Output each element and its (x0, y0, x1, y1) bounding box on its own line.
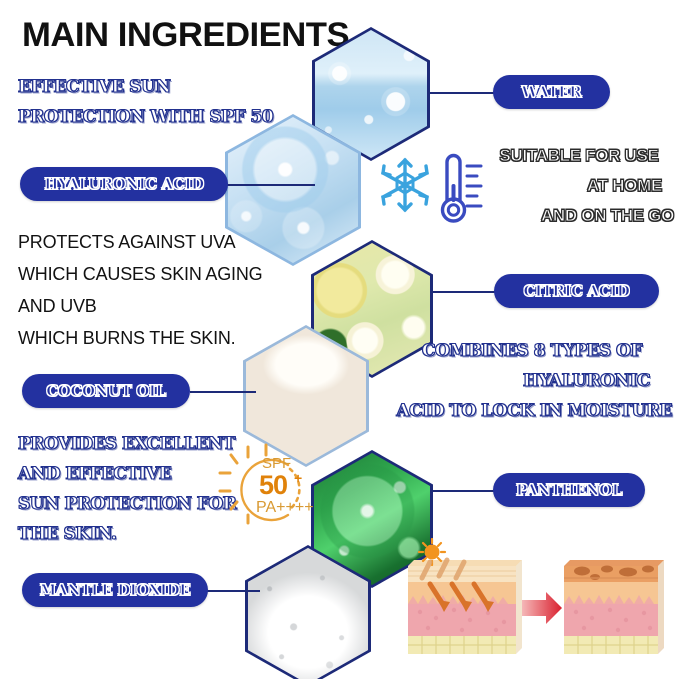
spf-badge: SPF 50 + PA++++ (218, 443, 314, 535)
connector-panthenol (432, 490, 500, 492)
coconut-claim-line-4: THE SKIN. (18, 519, 236, 549)
label-mantle-dioxide[interactable]: MANTLE DIOXIDE (22, 573, 208, 607)
spf-value: 50 (259, 470, 287, 501)
right-arrow-icon (522, 592, 562, 624)
label-coconut-oil[interactable]: COCONUT OIL (22, 374, 190, 408)
coconut-claim-block: PROVIDES EXCELLENT AND EFFECTIVE SUN PRO… (18, 429, 236, 549)
uv-claim-line-4: WHICH BURNS THE SKIN. (18, 322, 262, 354)
spf-claim-line-2: PROTECTION WITH SPF 50 (18, 102, 273, 132)
label-citric-acid[interactable]: CITRIC ACID (494, 274, 659, 308)
spf-claim-block: EFFECTIVE SUN PROTECTION WITH SPF 50 (18, 72, 273, 132)
hyaluronic-claim-line-3: ACID TO LOCK IN MOISTURE (392, 396, 672, 426)
hyaluronic-claim-block: COMBINES 8 TYPES OF HYALURONIC ACID TO L… (392, 336, 672, 426)
label-coconut-oil-text: COCONUT OIL (46, 382, 165, 400)
connector-citric (432, 291, 500, 293)
label-hyaluronic-acid-text: HYALURONIC ACID (44, 175, 203, 193)
hyaluronic-claim-line-2: HYALURONIC (392, 366, 672, 396)
snowflake-thermometer-icon (375, 148, 487, 230)
hyaluronic-claim-line-1: COMBINES 8 TYPES OF (392, 336, 672, 366)
label-mantle-dioxide-text: MANTLE DIOXIDE (40, 581, 191, 599)
uv-claim-line-1: PROTECTS AGAINST UVA (18, 226, 262, 258)
portable-claim-line-1: SUITABLE FOR USE (484, 141, 674, 171)
infographic-canvas: MAIN INGREDIENTS (0, 0, 679, 679)
label-panthenol-text: PANTHENOL (516, 481, 622, 499)
label-water-text: WATER (522, 83, 582, 101)
uv-claim-block: PROTECTS AGAINST UVA WHICH CAUSES SKIN A… (18, 226, 262, 354)
skin-block-after (564, 560, 664, 654)
page-title: MAIN INGREDIENTS (22, 16, 349, 55)
connector-coconut (190, 391, 256, 393)
coconut-claim-line-1: PROVIDES EXCELLENT (18, 429, 236, 459)
portable-claim-line-2: AT HOME (484, 171, 674, 201)
coconut-claim-line-3: SUN PROTECTION FOR (18, 489, 236, 519)
label-panthenol[interactable]: PANTHENOL (493, 473, 645, 507)
spf-plus: + (294, 470, 302, 486)
uv-claim-line-2: WHICH CAUSES SKIN AGING (18, 258, 262, 290)
label-water[interactable]: WATER (493, 75, 610, 109)
connector-mantle (205, 590, 260, 592)
uv-claim-line-3: AND UVB (18, 290, 262, 322)
portable-claim-block: SUITABLE FOR USE AT HOME AND ON THE GO (484, 141, 674, 231)
label-hyaluronic-acid[interactable]: HYALURONIC ACID (20, 167, 228, 201)
skin-damage-diagram (400, 538, 672, 666)
label-citric-acid-text: CITRIC ACID (524, 282, 630, 300)
coconut-claim-line-2: AND EFFECTIVE (18, 459, 236, 489)
connector-hyaluronic (227, 184, 315, 186)
spf-pa-rating: PA++++ (256, 499, 314, 517)
connector-water (428, 92, 500, 94)
portable-claim-line-3: AND ON THE GO (484, 201, 674, 231)
spf-claim-line-1: EFFECTIVE SUN (18, 72, 273, 102)
